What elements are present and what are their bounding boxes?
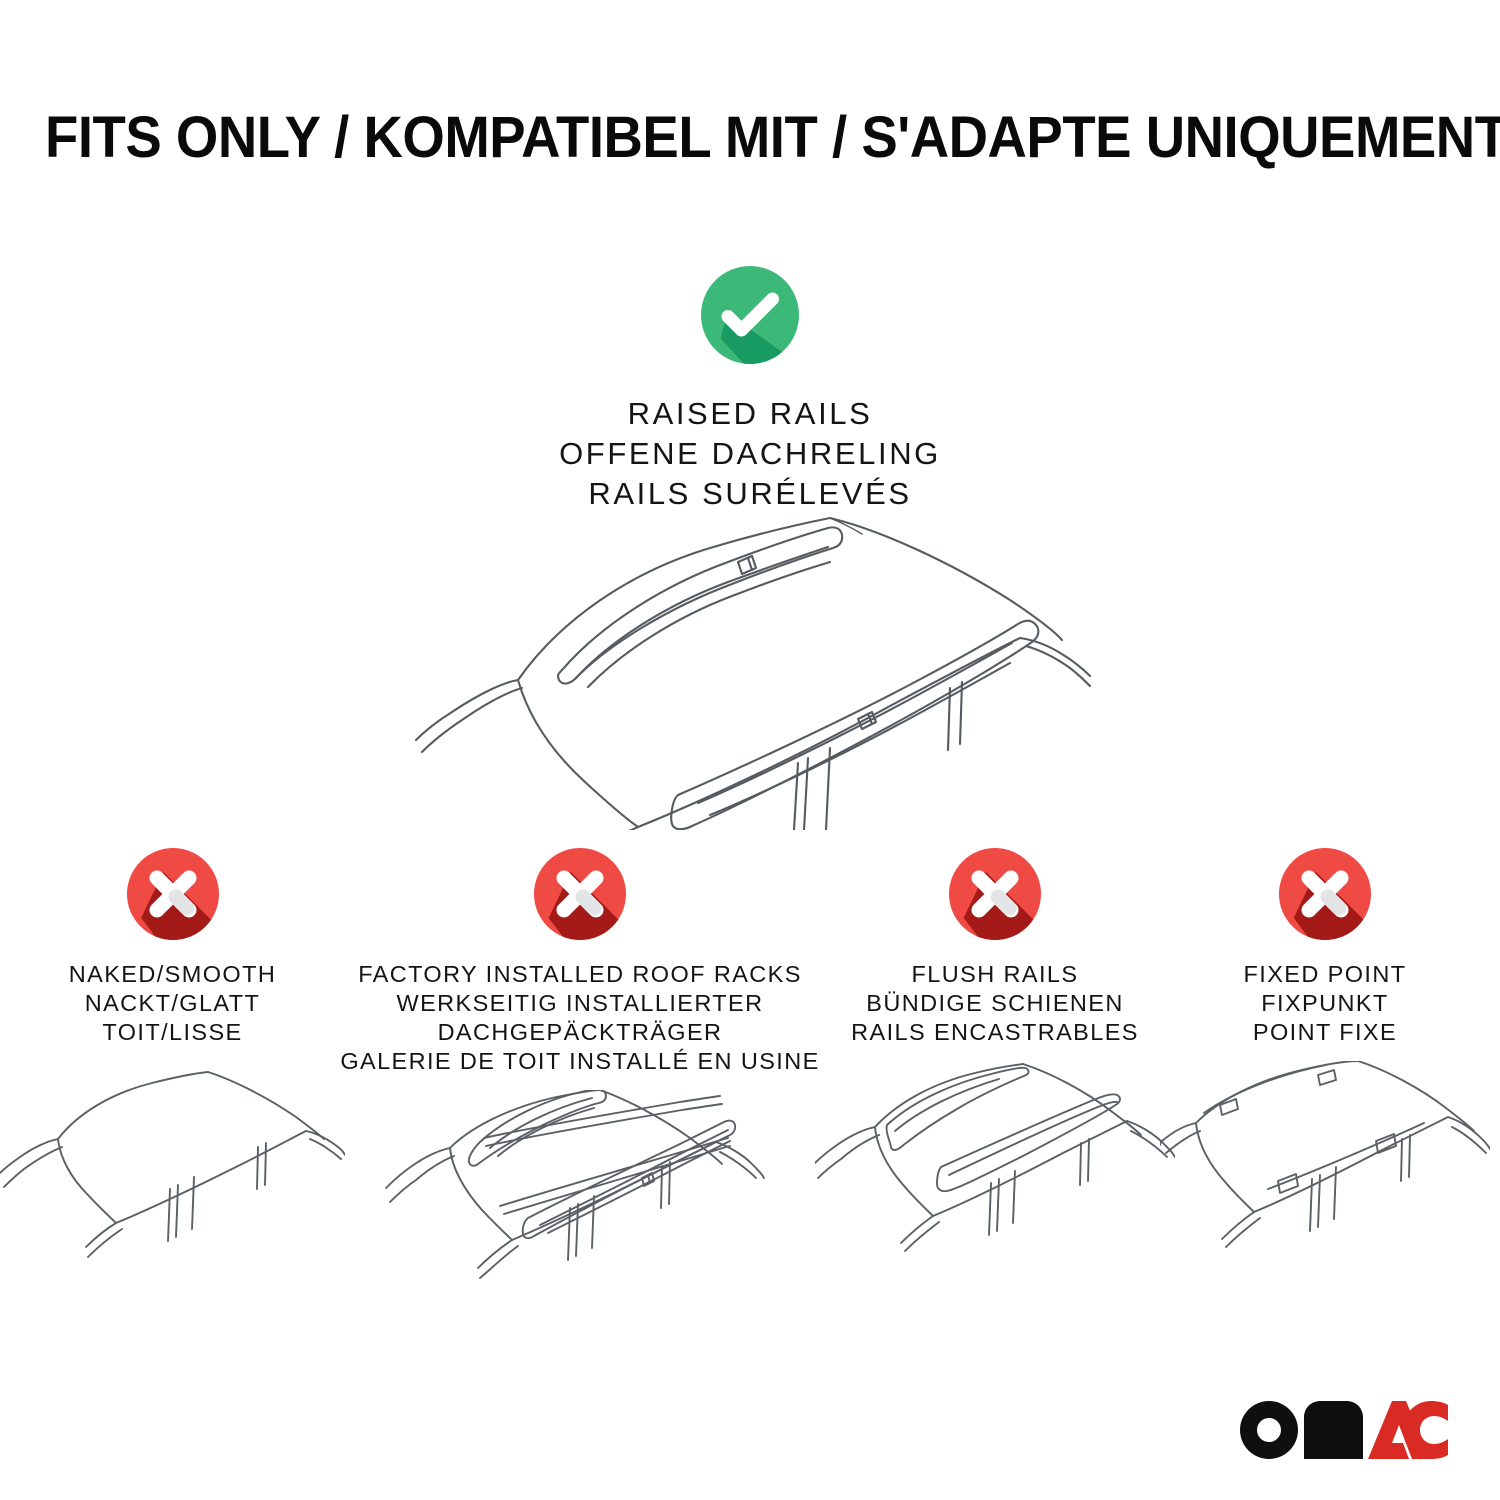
incompatible-item-fixed-point: FIXED POINT FIXPUNKT POINT FIXE xyxy=(1175,848,1475,1311)
caption-line-en: RAISED RAILS xyxy=(559,394,941,434)
x-circle-icon xyxy=(534,848,626,940)
incompatible-caption: FLUSH RAILS BÜNDIGE SCHIENEN RAILS ENCAS… xyxy=(851,960,1139,1047)
caption-line-de-2: DACHGEPÄCKTRÄGER xyxy=(340,1018,819,1047)
logo-letter-o xyxy=(1240,1401,1298,1459)
incompatible-caption: FACTORY INSTALLED ROOF RACKS WERKSEITIG … xyxy=(340,960,819,1076)
caption-line-fr: POINT FIXE xyxy=(1244,1018,1407,1047)
caption-line-fr: RAILS ENCASTRABLES xyxy=(851,1018,1139,1047)
compatible-section: RAISED RAILS OFFENE DACHRELING RAILS SUR… xyxy=(0,266,1500,514)
incompatible-section: NAKED/SMOOTH NACKT/GLATT TOIT/LISSE xyxy=(0,848,1500,1340)
caption-line-de: BÜNDIGE SCHIENEN xyxy=(851,989,1139,1018)
caption-line-de: NACKT/GLATT xyxy=(69,989,276,1018)
incompatible-caption: FIXED POINT FIXPUNKT POINT FIXE xyxy=(1244,960,1407,1047)
page-title: FITS ONLY / KOMPATIBEL MIT / S'ADAPTE UN… xyxy=(45,104,1455,171)
caption-line-en: FACTORY INSTALLED ROOF RACKS xyxy=(340,960,819,989)
x-mark-glyph xyxy=(949,848,1041,940)
car-roof-with-raised-rails-illustration xyxy=(410,500,1100,830)
car-roof-naked-smooth-illustration xyxy=(0,1061,345,1311)
x-mark-glyph xyxy=(534,848,626,940)
x-mark-glyph xyxy=(127,848,219,940)
caption-line-de: FIXPUNKT xyxy=(1244,989,1407,1018)
caption-line-de: OFFENE DACHRELING xyxy=(559,434,941,474)
x-circle-icon xyxy=(1279,848,1371,940)
incompatible-caption: NAKED/SMOOTH NACKT/GLATT TOIT/LISSE xyxy=(69,960,276,1047)
omac-logo-mark xyxy=(1240,1401,1448,1459)
check-circle-icon xyxy=(701,266,799,364)
caption-line-en: FIXED POINT xyxy=(1244,960,1407,989)
car-roof-fixed-point-illustration xyxy=(1160,1061,1490,1311)
x-circle-icon xyxy=(949,848,1041,940)
compatible-caption: RAISED RAILS OFFENE DACHRELING RAILS SUR… xyxy=(559,394,941,514)
caption-line-fr: GALERIE DE TOIT INSTALLÉ EN USINE xyxy=(340,1047,819,1076)
incompatible-item-naked-smooth: NAKED/SMOOTH NACKT/GLATT TOIT/LISSE xyxy=(0,848,345,1311)
incompatible-item-factory-roof-racks: FACTORY INSTALLED ROOF RACKS WERKSEITIG … xyxy=(345,848,815,1340)
caption-line-fr: TOIT/LISSE xyxy=(69,1018,276,1047)
omac-logo xyxy=(1240,1402,1448,1458)
caption-line-en: FLUSH RAILS xyxy=(851,960,1139,989)
car-roof-factory-roof-racks-illustration xyxy=(380,1090,780,1340)
incompatible-item-flush-rails: FLUSH RAILS BÜNDIGE SCHIENEN RAILS ENCAS… xyxy=(815,848,1175,1311)
x-mark-glyph xyxy=(1279,848,1371,940)
x-circle-icon xyxy=(127,848,219,940)
caption-line-de-1: WERKSEITIG INSTALLIERTER xyxy=(340,989,819,1018)
check-mark-glyph xyxy=(701,266,799,364)
logo-letter-m xyxy=(1304,1401,1363,1459)
caption-line-en: NAKED/SMOOTH xyxy=(69,960,276,989)
car-roof-flush-rails-illustration xyxy=(815,1061,1175,1311)
